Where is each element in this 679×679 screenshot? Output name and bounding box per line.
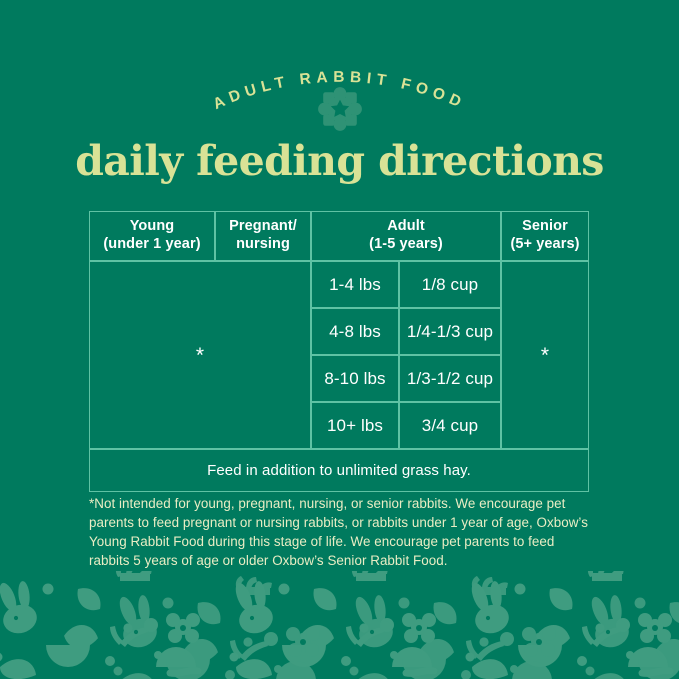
header-young: Young (under 1 year) (89, 211, 215, 261)
botanical-rabbit-pattern (0, 571, 679, 679)
header-young-line2: (under 1 year) (90, 236, 214, 254)
cell-adult-weight-1: 1-4 lbs (311, 261, 399, 308)
header-senior-line2: (5+ years) (502, 236, 588, 254)
header-pregnant-line2: nursing (216, 236, 310, 254)
cell-adult-weight-2: 4-8 lbs (311, 308, 399, 355)
header-adult: Adult (1-5 years) (311, 211, 501, 261)
cell-young-pregnant-asterisk: * (89, 261, 311, 449)
cell-adult-amount-2: 1/4-1/3 cup (399, 308, 501, 355)
header-senior-line1: Senior (502, 218, 588, 236)
page-title: daily feeding directions (0, 140, 679, 183)
header-senior: Senior (5+ years) (501, 211, 589, 261)
table-footer-row: Feed in addition to unlimited grass hay. (89, 449, 589, 492)
cell-senior-asterisk: * (501, 261, 589, 449)
feeding-directions-panel: ADULT RABBIT FOOD daily feeding directio… (0, 0, 679, 679)
cell-adult-amount-1: 1/8 cup (399, 261, 501, 308)
table-header-row: Young (under 1 year) Pregnant/ nursing A… (89, 211, 589, 261)
cell-adult-amount-4: 3/4 cup (399, 402, 501, 449)
header-young-line1: Young (90, 218, 214, 236)
cell-adult-weight-3: 8-10 lbs (311, 355, 399, 402)
cell-feed-note: Feed in addition to unlimited grass hay. (89, 449, 589, 492)
header-pregnant-nursing: Pregnant/ nursing (215, 211, 311, 261)
table-row: * 1-4 lbs 1/8 cup * (89, 261, 589, 308)
header-pregnant-line1: Pregnant/ (216, 218, 310, 236)
footnote-text: *Not intended for young, pregnant, nursi… (89, 494, 594, 570)
rosette-flower-icon (317, 86, 363, 132)
header-adult-line1: Adult (312, 218, 500, 236)
cell-adult-amount-3: 1/3-1/2 cup (399, 355, 501, 402)
header-adult-line2: (1-5 years) (312, 236, 500, 254)
feeding-table: Young (under 1 year) Pregnant/ nursing A… (89, 211, 589, 492)
cell-adult-weight-4: 10+ lbs (311, 402, 399, 449)
feeding-table-wrapper: Young (under 1 year) Pregnant/ nursing A… (89, 211, 589, 492)
